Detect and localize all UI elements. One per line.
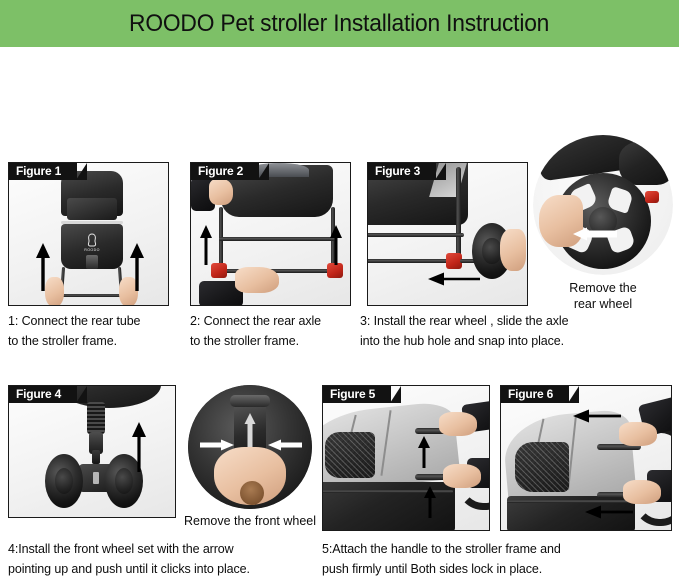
hand-upper-left (209, 179, 233, 205)
figure-2-photo (191, 163, 350, 305)
figure-3-caption-line-2: into the hub hole and snap into place. (360, 331, 660, 351)
figure-5-caption: 5:Attach the handle to the stroller fram… (322, 539, 662, 579)
canopy-mesh-window (515, 442, 569, 492)
figure-1-photo: ROODO (9, 163, 168, 305)
remove-front-wheel-label: Remove the front wheel (178, 513, 322, 529)
figure-4-caption-line-2: pointing up and push until it clicks int… (8, 559, 308, 579)
figure-4-badge: Figure 4 (9, 386, 77, 403)
hand-holding-wheel (500, 229, 526, 271)
arrow-right-white-icon (200, 439, 234, 451)
hand-upper (439, 412, 477, 436)
figure-3-panel: Figure 3 (367, 162, 528, 306)
hand-upper (619, 422, 657, 446)
figure-3-caption-line-1: 3: Install the rear wheel , slide the ax… (360, 311, 660, 331)
figure-6-panel: Figure 6 (500, 385, 672, 531)
stroller-buckle (86, 255, 98, 269)
figure-5-badge: Figure 5 (323, 386, 391, 403)
arrow-up-white-icon (244, 413, 256, 447)
axle-clip (645, 191, 659, 203)
frame-upper-bar (219, 237, 335, 241)
arrow-up-left-icon (199, 225, 213, 265)
arrow-left-white-icon (573, 227, 617, 241)
wheel-stem-bellows (87, 402, 105, 434)
frame-crossbar (59, 294, 125, 297)
arrow-up-right-icon (329, 225, 343, 265)
figure-6-badge: Figure 6 (501, 386, 569, 403)
arrow-up-lower-icon (423, 486, 437, 518)
figure-1-caption-line-2: to the stroller frame. (8, 331, 183, 351)
frame-left-upright (219, 207, 223, 265)
arrow-left-icon (428, 271, 480, 287)
figure-2-caption: 2: Connect the rear axle to the stroller… (190, 311, 365, 351)
frame-vertical (456, 167, 461, 257)
stem-collar (230, 395, 270, 407)
remove-rear-wheel-label: Remove the rear wheel (533, 280, 673, 312)
hand-lower (623, 480, 661, 504)
arrow-up-upper-icon (417, 436, 431, 468)
front-wheel-left (45, 454, 83, 508)
figure-5-caption-line-1: 5:Attach the handle to the stroller fram… (322, 539, 662, 559)
figure-3-caption: 3: Install the rear wheel , slide the ax… (360, 311, 660, 351)
figure-6-photo (501, 386, 671, 530)
figure-5-photo (323, 386, 489, 530)
hand-lower (443, 464, 481, 488)
remove-rear-wheel-label-line-2: rear wheel (533, 296, 673, 312)
arrow-up-icon (131, 422, 147, 472)
figure-1-badge: Figure 1 (9, 163, 77, 180)
wheel-stem-tip (92, 450, 100, 464)
axle-clip-right (327, 263, 343, 278)
inset-photo (533, 135, 673, 275)
figure-1-caption: 1: Connect the rear tube to the stroller… (8, 311, 183, 351)
arrow-left-white-icon (268, 439, 302, 451)
figure-5-caption-line-2: push firmly until Both sides lock in pla… (322, 559, 662, 579)
figure-4-caption: 4:Install the front wheel set with the a… (8, 539, 308, 579)
axle-clip-left (211, 263, 227, 278)
figure-3-photo (368, 163, 527, 305)
stroller-pocket (67, 198, 117, 220)
frame-lower-bar (367, 233, 464, 237)
figure-3-badge: Figure 3 (368, 163, 436, 180)
inset-photo (188, 385, 312, 509)
figure-4-panel: Figure 4 (8, 385, 176, 518)
header-banner: ROODO Pet stroller Installation Instruct… (0, 0, 679, 47)
hand-lower (235, 267, 279, 293)
figure-4-caption-line-1: 4:Install the front wheel set with the a… (8, 539, 308, 559)
arrow-left-lower-icon (585, 504, 633, 520)
canopy-mesh-window (325, 432, 375, 478)
caster-arrow-marker (93, 472, 99, 484)
figure-2-badge: Figure 2 (191, 163, 259, 180)
stroller-body-right (619, 141, 673, 185)
page-title: ROODO Pet stroller Installation Instruct… (129, 10, 549, 38)
figure-1-panel: Figure 1 ROODO (8, 162, 169, 306)
roodo-logo: ROODO (77, 233, 107, 253)
arrow-up-left-icon (35, 243, 51, 291)
figure-2-caption-line-1: 2: Connect the rear axle (190, 311, 365, 331)
figure-2-caption-line-2: to the stroller frame. (190, 331, 365, 351)
arrow-left-upper-icon (573, 408, 621, 424)
arrow-up-right-icon (129, 243, 145, 291)
remove-front-wheel-label-line-1: Remove the front wheel (178, 513, 322, 529)
thumb-shadow (240, 481, 264, 505)
figure-1-caption-line-1: 1: Connect the rear tube (8, 311, 183, 331)
figure-4-photo (9, 386, 175, 517)
remove-rear-wheel-label-line-1: Remove the (533, 280, 673, 296)
remove-front-wheel-inset (188, 385, 312, 509)
instruction-sheet: Figure 1 ROODO (0, 47, 679, 562)
figure-2-panel: Figure 2 (190, 162, 351, 306)
remove-rear-wheel-inset (533, 135, 673, 275)
frame-crossbar (507, 500, 635, 503)
figure-5-panel: Figure 5 (322, 385, 490, 531)
